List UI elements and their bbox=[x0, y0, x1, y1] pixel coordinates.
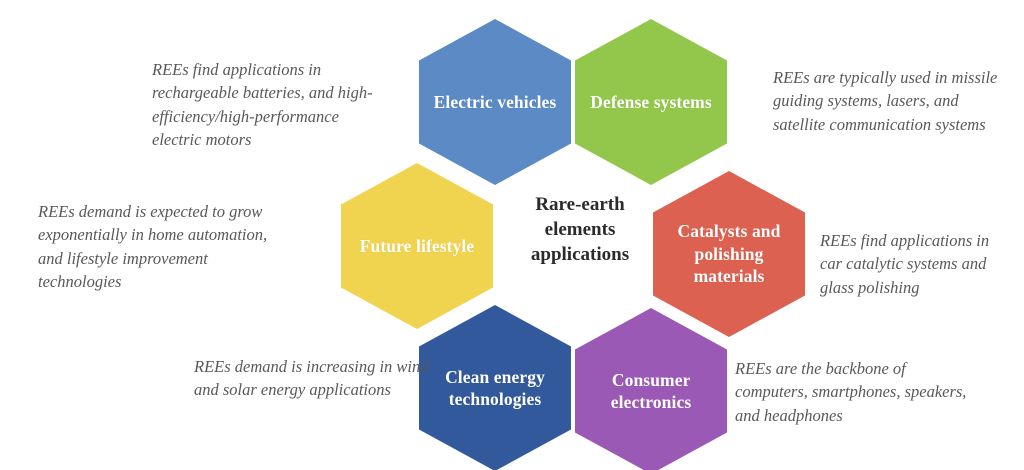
hexagon-label-line: Defense bbox=[590, 92, 649, 112]
hexagon-label-catalysts-and-polishing-materials: Catalysts and polishing materials bbox=[663, 220, 795, 287]
hexagon-catalysts-and-polishing-materials[interactable]: Catalysts and polishing materials bbox=[653, 171, 805, 337]
hexagon-future-lifestyle[interactable]: Future lifestyle bbox=[341, 163, 493, 329]
hexagon-label-line: vehicles bbox=[497, 92, 556, 112]
hexagon-label-line: technologies bbox=[449, 389, 542, 409]
hexagon-electric-vehicles[interactable]: Electric vehicles bbox=[419, 19, 571, 185]
hexagon-label-line: Future bbox=[360, 236, 412, 256]
hexagon-label-line: systems bbox=[654, 92, 712, 112]
hexagon-label-line: and bbox=[752, 221, 781, 241]
center-title-line: applications bbox=[497, 242, 663, 267]
hexagon-label-future-lifestyle: Future lifestyle bbox=[360, 235, 475, 257]
center-title-line: elements bbox=[497, 217, 663, 242]
center-title-line: Rare-earth bbox=[497, 192, 663, 217]
hexagon-defense-systems[interactable]: Defense systems bbox=[575, 19, 727, 185]
hexagon-label-defense-systems: Defense systems bbox=[590, 91, 712, 113]
hexagon-label-line: Electric bbox=[434, 92, 493, 112]
hexagon-label-line: Catalysts bbox=[678, 221, 748, 241]
note-consumer-electronics: REEs are the backbone of computers, smar… bbox=[735, 357, 967, 427]
hexagon-label-line: polishing bbox=[695, 244, 764, 264]
note-catalysts-and-polishing-materials: REEs find applications in car catalytic … bbox=[820, 229, 1010, 299]
note-clean-energy-technologies: REEs demand is increasing in wind and so… bbox=[194, 355, 429, 402]
note-defense-systems: REEs are typically used in missile guidi… bbox=[773, 66, 1001, 136]
note-future-lifestyle: REEs demand is expected to grow exponent… bbox=[38, 200, 293, 294]
hexagon-label-line: lifestyle bbox=[416, 236, 474, 256]
hexagon-label-line: materials bbox=[694, 266, 765, 286]
hexagon-label-clean-energy-technologies: Clean energy technologies bbox=[429, 366, 561, 411]
note-electric-vehicles: REEs find applications in rechargeable b… bbox=[152, 58, 380, 152]
hexagon-label-line: Clean energy bbox=[445, 367, 545, 387]
hexagon-label-line: Consumer bbox=[612, 370, 690, 390]
diagram-center-title: Rare-earth elements applications bbox=[497, 192, 663, 267]
hexagon-label-consumer-electronics: Consumer electronics bbox=[585, 369, 717, 414]
hexagon-clean-energy-technologies[interactable]: Clean energy technologies bbox=[419, 305, 571, 470]
rare-earth-applications-diagram: Electric vehicles Defense systems Future… bbox=[0, 0, 1024, 470]
hexagon-label-line: electronics bbox=[611, 392, 691, 412]
hexagon-consumer-electronics[interactable]: Consumer electronics bbox=[575, 308, 727, 470]
hexagon-label-electric-vehicles: Electric vehicles bbox=[434, 91, 557, 113]
